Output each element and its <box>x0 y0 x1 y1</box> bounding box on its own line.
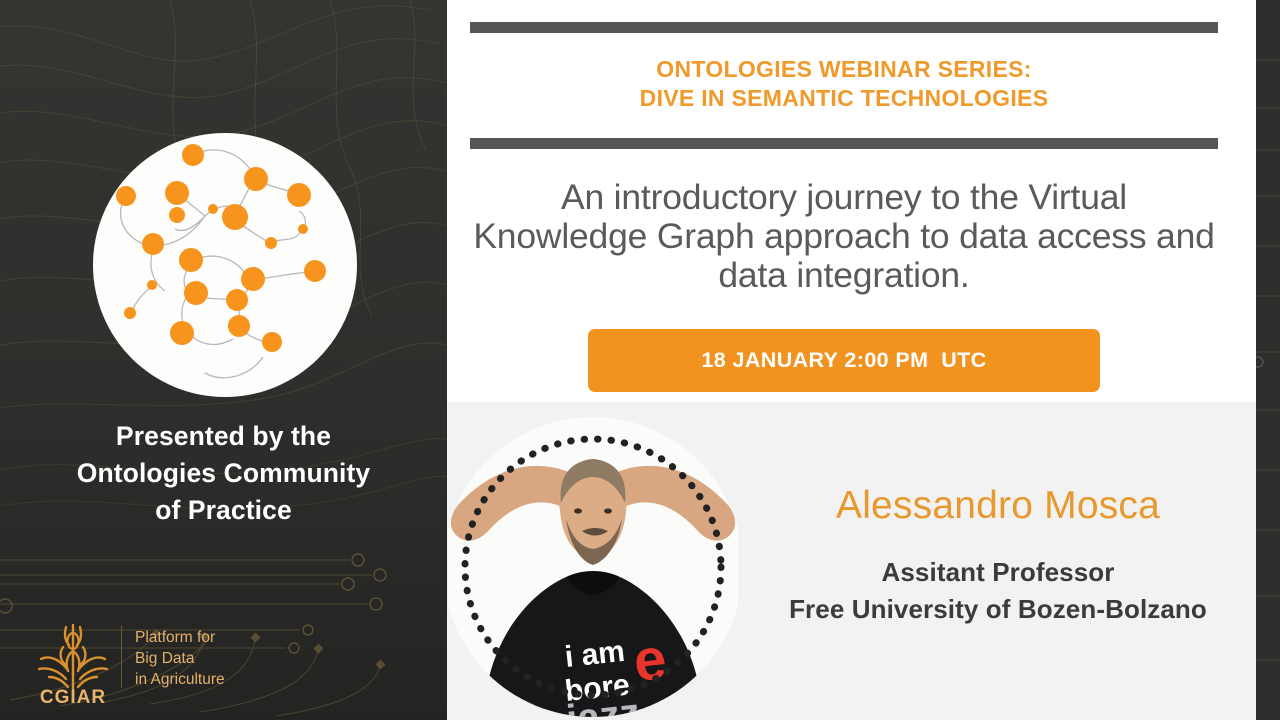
cgiar-tagline: Platform for Big Data in Agriculture <box>135 627 225 696</box>
speaker-portrait: i am bore e jazz <box>448 415 738 720</box>
date-time-banner: 18 JANUARY 2:00 PM UTC <box>588 329 1100 392</box>
svg-text:e: e <box>631 626 670 694</box>
series-heading-line-1: ONTOLOGIES WEBINAR SERIES: <box>470 55 1218 84</box>
speaker-role: Assitant Professor <box>740 554 1256 591</box>
series-heading: ONTOLOGIES WEBINAR SERIES: DIVE IN SEMAN… <box>470 55 1218 113</box>
speaker-affiliation: Free University of Bozen-Bolzano <box>740 591 1256 628</box>
speaker-portrait-svg: i am bore e jazz <box>448 415 738 720</box>
tagline-line-1: Platform for <box>135 627 225 648</box>
tagline-line-2: Big Data <box>135 648 225 669</box>
svg-text:CGIAR: CGIAR <box>40 687 106 705</box>
presented-by-line-1: Presented by the <box>0 418 447 455</box>
presented-by-text: Presented by the Ontologies Community of… <box>0 418 447 529</box>
logo-divider <box>121 626 122 688</box>
webinar-poster: Presented by the Ontologies Community of… <box>0 0 1280 720</box>
speaker-name: Alessandro Mosca <box>740 482 1256 530</box>
cgiar-wheat-emblem-icon: CGIAR <box>35 617 111 705</box>
speaker-info: Alessandro Mosca Assitant Professor Free… <box>740 482 1256 628</box>
divider-rule-top <box>470 22 1218 33</box>
presented-by-line-3: of Practice <box>0 492 447 529</box>
svg-text:i am: i am <box>563 635 626 674</box>
talk-title: An introductory journey to the Virtual K… <box>470 178 1218 295</box>
date-time-label: 18 JANUARY 2:00 PM UTC <box>701 348 986 373</box>
presented-by-line-2: Ontologies Community <box>0 455 447 492</box>
knowledge-graph-network-circle <box>93 133 357 397</box>
series-heading-line-2: DIVE IN SEMANTIC TECHNOLOGIES <box>470 84 1218 113</box>
network-graph-svg <box>93 133 357 397</box>
tagline-line-3: in Agriculture <box>135 669 225 690</box>
cgiar-logo: CGIAR Platform for Big Data in Agricultu… <box>35 617 225 705</box>
right-edge-dark-strip <box>1256 0 1280 720</box>
divider-rule-bottom <box>470 138 1218 149</box>
left-dark-panel: Presented by the Ontologies Community of… <box>0 0 447 720</box>
